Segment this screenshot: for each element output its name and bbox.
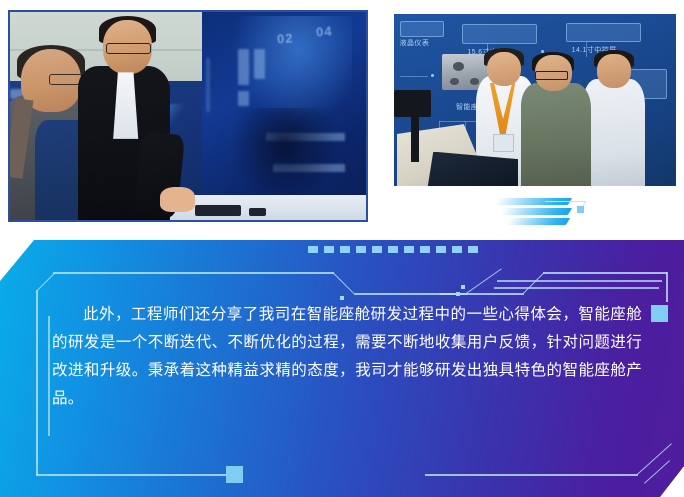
frame-bottom-horizontal-right (425, 474, 638, 476)
chevron-accent-square (577, 206, 584, 213)
photo-right-diagram-box-1 (400, 21, 444, 37)
photo-right-camera-stand (411, 110, 419, 162)
dash-2 (324, 246, 334, 253)
photo-exhibition-demo-left: 04 02 (8, 10, 368, 222)
accent-square-right (651, 305, 668, 322)
photo-right-person-visitor (521, 83, 592, 186)
dash-8 (420, 246, 430, 253)
frame-top-horizontal-left (53, 272, 334, 274)
accent-square-bottom (226, 466, 243, 483)
dash-3 (340, 246, 350, 253)
dash-1 (308, 246, 318, 253)
dash-10 (452, 246, 462, 253)
frame-double-line-2 (494, 287, 659, 289)
frame-right-vertical-top (666, 272, 668, 302)
dash-9 (436, 246, 446, 253)
accent-dot-right-2 (456, 292, 460, 296)
chevron-bar-3 (506, 218, 570, 225)
photo-right-badge (493, 134, 515, 151)
photo-right-person-3 (583, 79, 645, 186)
dash-11 (468, 246, 478, 253)
dash-5 (372, 246, 382, 253)
panel-body-text: 此外，工程师们还分享了我司在智能座舱研发过程中的一些心得体会，智能座舱的研发是一… (52, 300, 642, 412)
frame-bottom-horizontal-left (36, 474, 226, 476)
frame-left-vertical (36, 290, 38, 475)
photo-right-connector-2 (586, 42, 587, 57)
dash-4 (356, 246, 366, 253)
frame-double-line-lead (440, 293, 467, 295)
photo-right-node-3 (431, 74, 434, 77)
frame-top-horizontal-right (543, 272, 667, 274)
accent-dot-right (461, 285, 465, 289)
photo-right-module-knob-4 (470, 78, 478, 85)
photo-right-diagram-box-2 (462, 24, 537, 43)
page-root: 04 02 (0, 0, 684, 497)
chevron-arrow-decoration (496, 198, 588, 232)
frame-double-line-1 (497, 280, 662, 282)
photo-exhibition-demo-right: 液晶仪表 15.6寸中控屏 14.1寸中控屏 智能座舱 (394, 14, 676, 186)
dash-6 (388, 246, 398, 253)
photo-right-diagram-box-3 (566, 23, 641, 42)
photo-right-module-knob-3 (450, 78, 458, 85)
frame-notch-horizontal (354, 293, 524, 295)
dash-7 (404, 246, 414, 253)
panel-body-paragraph: 此外，工程师们还分享了我司在智能座舱研发过程中的一些心得体会，智能座舱的研发是一… (52, 300, 642, 412)
photo-left-person-presenter (10, 12, 366, 220)
dash-row-decoration (308, 246, 478, 253)
photo-right-connector-7 (400, 76, 428, 77)
photo-right-label-lcd-cluster: 液晶仪表 (400, 38, 430, 48)
frame-left-vertical-inner (48, 316, 50, 436)
